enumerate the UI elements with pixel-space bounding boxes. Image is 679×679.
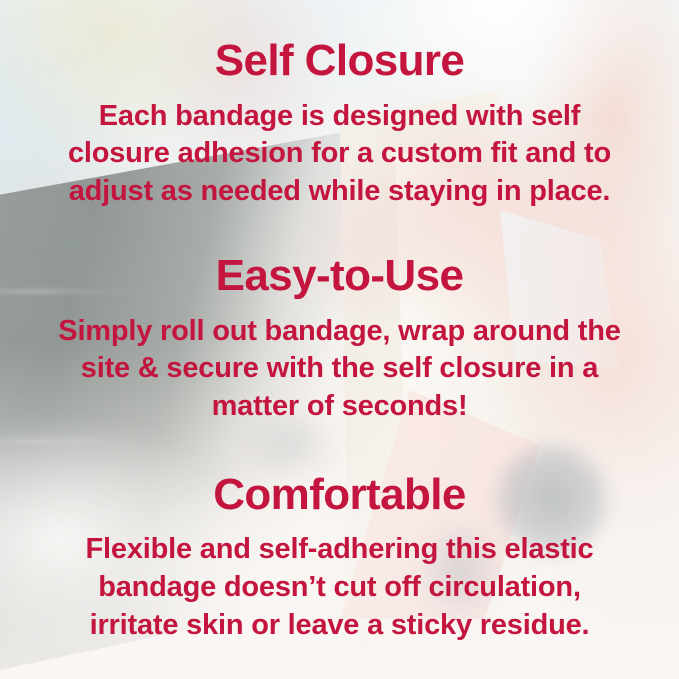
heading-comfortable: Comfortable <box>34 472 645 518</box>
heading-self-closure: Self Closure <box>34 38 645 84</box>
body-line: closure adhesion for a custom fit and to <box>44 135 636 173</box>
body-line: Each bandage is designed with self <box>44 98 636 136</box>
body-line: irritate skin or leave a sticky residue. <box>44 607 636 645</box>
feature-section-comfortable: Comfortable Flexible and self-adhering t… <box>34 472 645 645</box>
body-comfortable: Flexible and self-adhering this elastic … <box>44 531 636 644</box>
product-feature-infographic: Self Closure Each bandage is designed wi… <box>0 0 679 679</box>
body-line: Simply roll out bandage, wrap around the <box>44 313 636 351</box>
body-self-closure: Each bandage is designed with self closu… <box>44 98 636 211</box>
feature-section-self-closure: Self Closure Each bandage is designed wi… <box>34 38 645 211</box>
feature-content: Self Closure Each bandage is designed wi… <box>0 0 679 679</box>
feature-section-easy-to-use: Easy-to-Use Simply roll out bandage, wra… <box>34 253 645 426</box>
body-easy-to-use: Simply roll out bandage, wrap around the… <box>44 313 636 426</box>
body-line: matter of seconds! <box>44 388 636 426</box>
body-line: bandage doesn’t cut off circulation, <box>44 569 636 607</box>
body-line: adjust as needed while staying in place. <box>44 173 636 211</box>
body-line: Flexible and self-adhering this elastic <box>44 531 636 569</box>
heading-easy-to-use: Easy-to-Use <box>34 253 645 299</box>
body-line: site & secure with the self closure in a <box>44 350 636 388</box>
